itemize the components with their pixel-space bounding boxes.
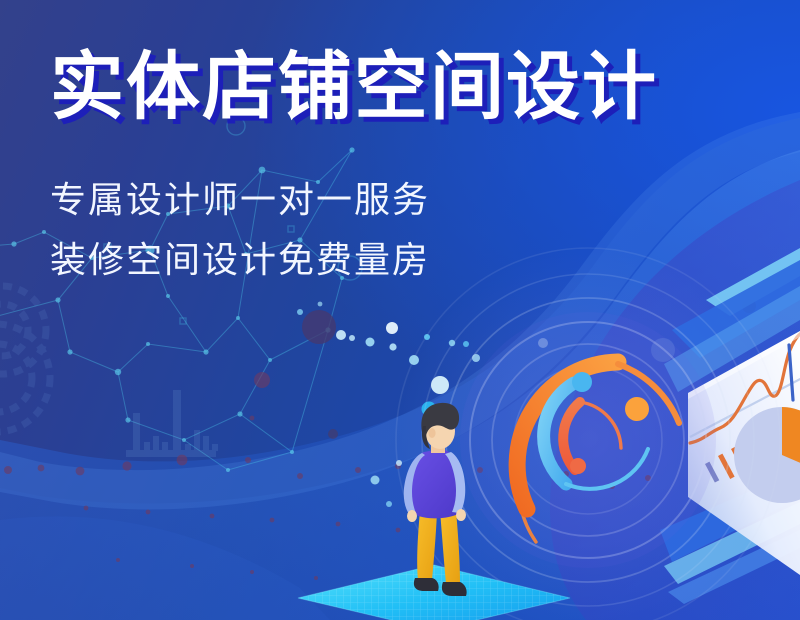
- shoe-right: [442, 582, 467, 596]
- banner-root: 实体店铺空间设计 专属设计师一对一服务 装修空间设计免费量房: [0, 0, 800, 620]
- shoe-left: [414, 578, 439, 591]
- isometric-platform: [298, 565, 570, 620]
- figure-group: [0, 0, 800, 620]
